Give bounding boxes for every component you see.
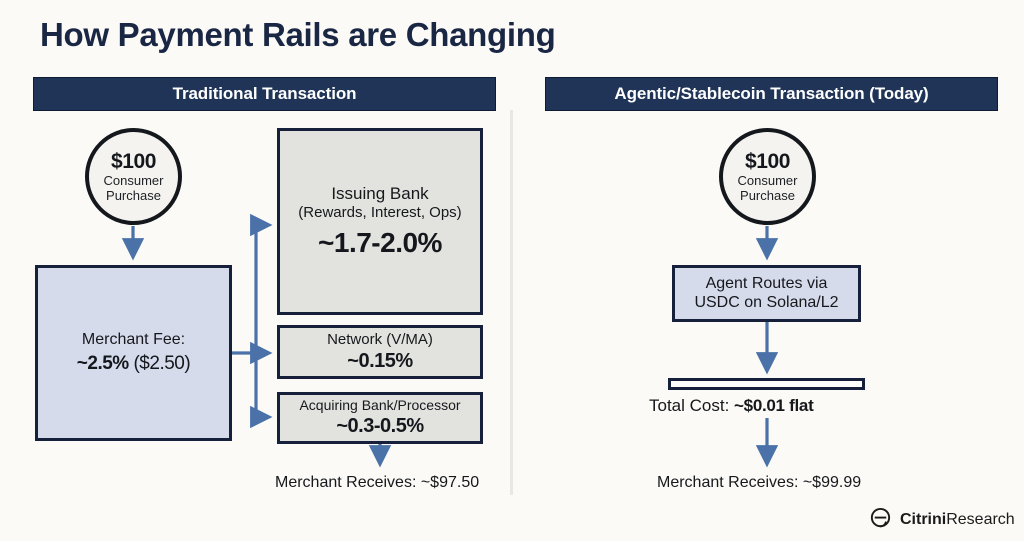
- total-cost-value: ~$0.01 flat: [734, 396, 813, 415]
- acquiring-bank-value: ~0.3-0.5%: [336, 415, 423, 439]
- consumer-amount-right: $100: [745, 151, 790, 173]
- logo-wordmark: CitriniResearch: [900, 511, 1015, 529]
- consumer-label-left-line1: Consumer: [104, 174, 164, 188]
- diagram-canvas: How Payment Rails are Changing Tradition…: [0, 0, 1024, 541]
- merchant-fee-box: Merchant Fee: ~2.5% ($2.50): [35, 265, 232, 441]
- issuing-bank-value: ~1.7-2.0%: [318, 226, 442, 259]
- acquiring-bank-name: Acquiring Bank/Processor: [299, 397, 460, 414]
- merchant-fee-label: Merchant Fee:: [82, 331, 185, 350]
- agent-route-box: Agent Routes via USDC on Solana/L2: [672, 265, 861, 322]
- network-box: Network (V/MA) ~0.15%: [277, 325, 483, 379]
- consumer-label-right-line1: Consumer: [738, 174, 798, 188]
- network-value: ~0.15%: [347, 350, 412, 374]
- acquiring-bank-box: Acquiring Bank/Processor ~0.3-0.5%: [277, 392, 483, 444]
- citrini-research-logo: CitriniResearch: [868, 507, 1015, 532]
- merchant-receives-left: Merchant Receives: ~$97.50: [275, 474, 479, 492]
- consumer-amount-left: $100: [111, 151, 156, 173]
- panel-header-agentic: Agentic/Stablecoin Transaction (Today): [545, 77, 998, 111]
- merchant-receives-right: Merchant Receives: ~$99.99: [657, 474, 861, 492]
- agent-route-line1: Agent Routes via: [706, 275, 828, 294]
- citrini-e-mark-icon: [868, 507, 893, 532]
- total-cost-caption: Total Cost: ~$0.01 flat: [649, 396, 813, 416]
- panel-divider: [510, 110, 513, 495]
- page-title: How Payment Rails are Changing: [40, 16, 555, 54]
- panel-header-traditional: Traditional Transaction: [33, 77, 496, 111]
- agent-route-line2: USDC on Solana/L2: [694, 294, 838, 313]
- consumer-label-left-line2: Purchase: [106, 189, 161, 203]
- issuing-bank-detail: (Rewards, Interest, Ops): [298, 204, 461, 222]
- issuing-bank-box: Issuing Bank (Rewards, Interest, Ops) ~1…: [277, 128, 483, 315]
- consumer-purchase-node-right: $100 Consumer Purchase: [719, 128, 816, 225]
- issuing-bank-name: Issuing Bank: [331, 184, 428, 204]
- network-name: Network (V/MA): [327, 331, 433, 349]
- arrow-merchant-fee-branch: [232, 225, 268, 417]
- consumer-label-right-line2: Purchase: [740, 189, 795, 203]
- consumer-purchase-node-left: $100 Consumer Purchase: [85, 128, 182, 225]
- total-cost-bar: [668, 378, 865, 390]
- merchant-fee-value: ~2.5% ($2.50): [77, 353, 190, 375]
